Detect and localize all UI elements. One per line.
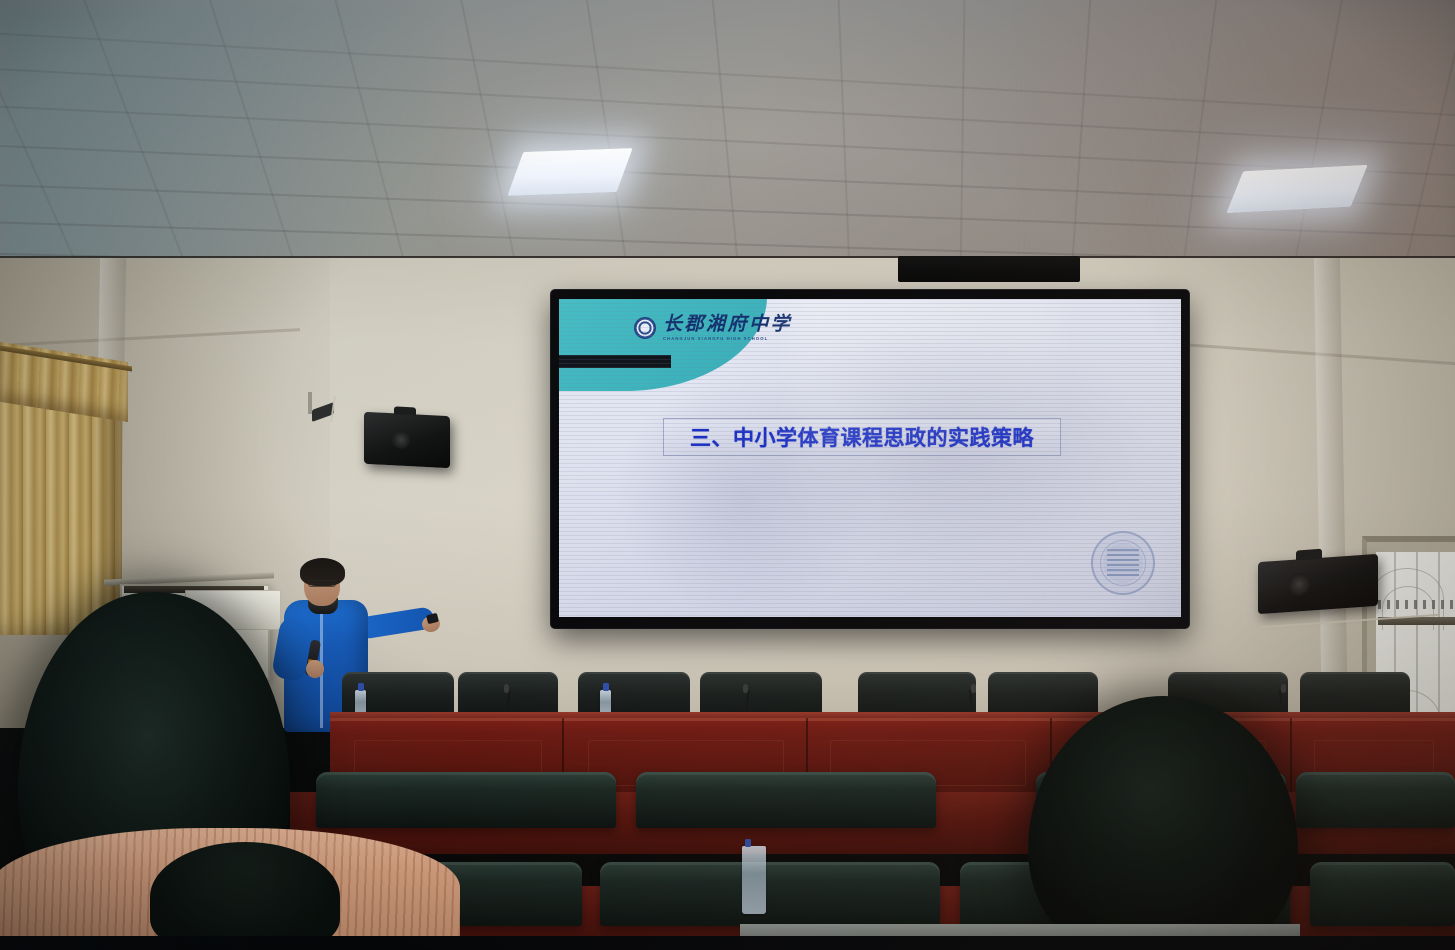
wall-speaker-left — [364, 412, 450, 469]
water-bottle-foreground — [742, 846, 766, 914]
audience-bench-seat — [600, 862, 940, 926]
slide-accent-shape — [559, 299, 767, 391]
photo-bottom-edge — [0, 936, 1455, 950]
school-seal-icon — [634, 317, 656, 339]
lecture-hall-photo: 长郡湘府中学 CHANGJUN XIANGFU HIGH SCHOOL 三、中小… — [0, 0, 1455, 950]
presenter-left-hand — [306, 660, 324, 678]
desk-microphone-head — [504, 684, 509, 693]
desk-microphone-head — [971, 684, 976, 693]
audience-member-foreground-left-lower — [150, 842, 340, 950]
audience-bench-seat — [636, 772, 936, 828]
school-name-cn: 长郡湘府中学 — [663, 315, 792, 334]
window-decorative-grill — [1378, 600, 1455, 609]
ceiling-grid-line-v — [836, 0, 854, 278]
presenter-glasses — [308, 580, 336, 587]
desk-microphone-head — [743, 684, 748, 693]
presentation-display[interactable]: 长郡湘府中学 CHANGJUN XIANGFU HIGH SCHOOL 三、中小… — [551, 290, 1189, 628]
ceiling-light-left — [507, 148, 632, 196]
ceiling-tint-right — [1035, 0, 1455, 278]
slide-content: 长郡湘府中学 CHANGJUN XIANGFU HIGH SCHOOL 三、中小… — [559, 299, 1181, 617]
ceiling-light-right — [1226, 165, 1368, 213]
slide-title: 三、中小学体育课程思政的实践策略 — [690, 422, 1034, 452]
wall-speaker-right — [1258, 554, 1378, 614]
school-name-en: CHANGJUN XIANGFU HIGH SCHOOL — [663, 337, 792, 341]
screen-glare — [795, 299, 1056, 617]
audience-bench-seat — [1310, 862, 1455, 926]
slide-accent-bar — [559, 355, 671, 368]
school-logo: 长郡湘府中学 CHANGJUN XIANGFU HIGH SCHOOL — [634, 315, 792, 341]
ceiling — [0, 0, 1455, 278]
desk-microphone-head — [1281, 684, 1286, 693]
audience-bench-seat — [316, 772, 616, 828]
display-ceiling-mount — [898, 256, 1080, 282]
ceiling-grid-line-v — [580, 0, 641, 278]
audience-bench-seat — [1296, 772, 1455, 828]
university-seal-watermark-icon — [1091, 531, 1155, 595]
ceiling-grid-line-v — [958, 0, 966, 278]
slide-title-box: 三、中小学体育课程思政的实践策略 — [663, 418, 1061, 456]
